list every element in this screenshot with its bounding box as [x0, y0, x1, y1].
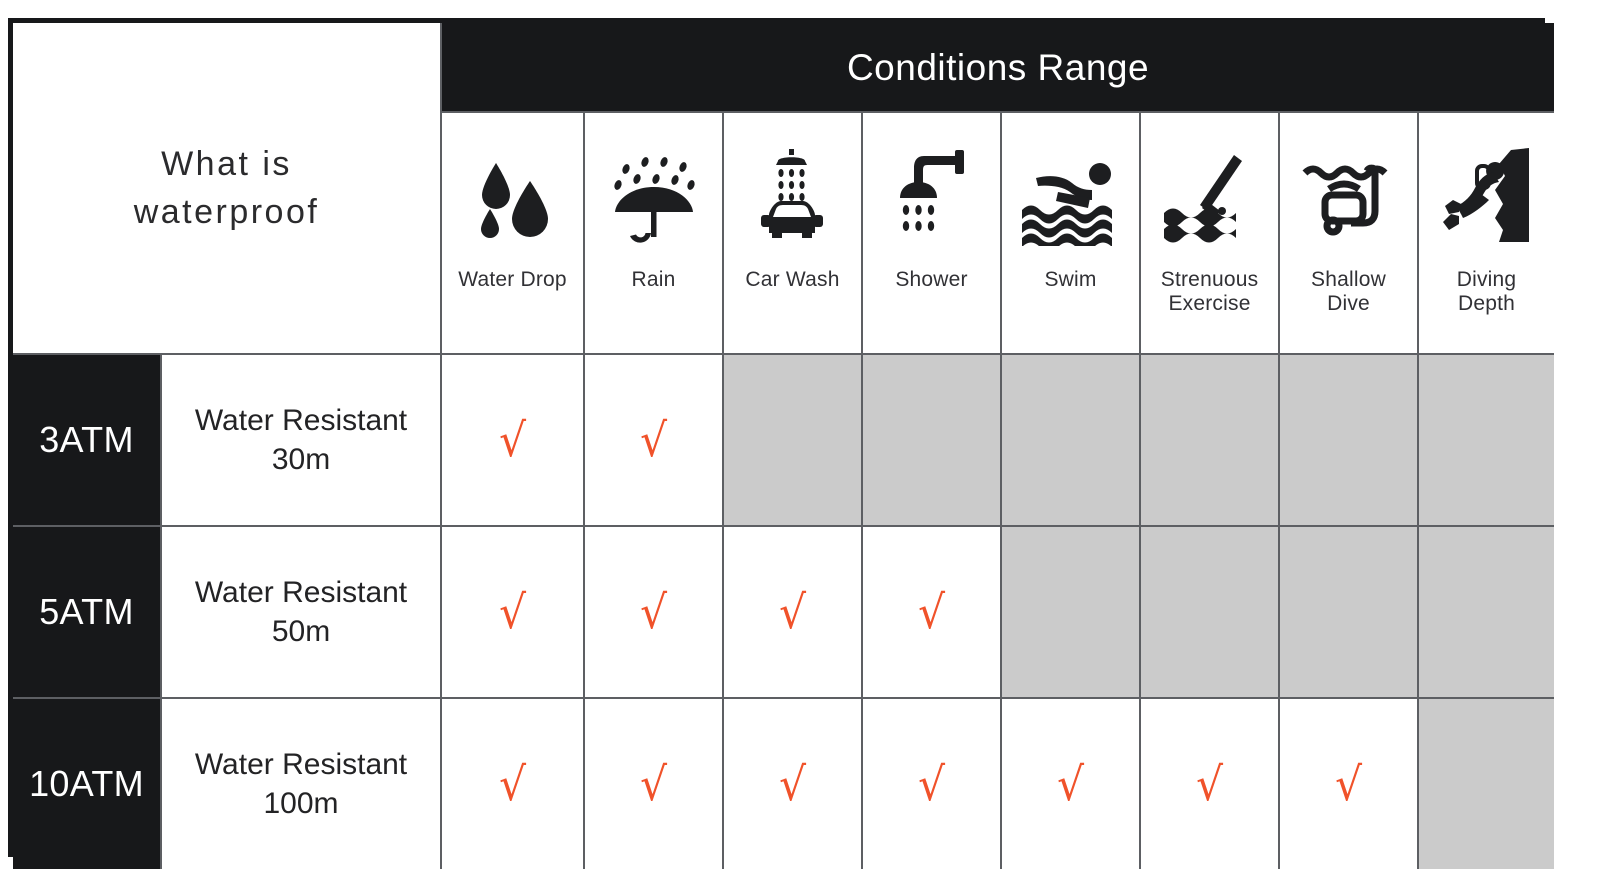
check-icon: √ — [1057, 761, 1084, 807]
cell-10atm-shallow-dive: √ — [1279, 698, 1418, 869]
check-icon: √ — [779, 589, 806, 635]
cell-5atm-shallow-dive — [1279, 526, 1418, 698]
check-icon: √ — [918, 589, 945, 635]
label-line-2: Exercise — [1168, 292, 1250, 315]
column-header-label: Car Wash — [745, 268, 839, 292]
column-header-car-wash[interactable]: Car Wash — [723, 112, 862, 354]
diver-jump-icon — [1160, 141, 1260, 256]
cell-10atm-shower: √ — [862, 698, 1001, 869]
cell-3atm-diving-depth — [1418, 354, 1554, 526]
cell-5atm-shower: √ — [862, 526, 1001, 698]
check-icon: √ — [1196, 761, 1223, 807]
cell-3atm-strenuous-exercise — [1140, 354, 1279, 526]
title-cell: What is waterproof — [13, 23, 441, 354]
column-header-label: StrenuousExercise — [1161, 268, 1259, 317]
column-header-label: Swim — [1044, 268, 1096, 292]
table-row: 5ATM Water Resistant 50m √ √ √ √ — [13, 526, 1554, 698]
check-icon: √ — [499, 761, 526, 807]
check-icon: √ — [640, 761, 667, 807]
cell-10atm-water-drop: √ — [441, 698, 584, 869]
check-icon: √ — [918, 761, 945, 807]
column-header-label: Shower — [895, 268, 967, 292]
label-line-1: Shallow — [1311, 268, 1386, 291]
waterproof-rating-table-page: What is waterproof Conditions Range — [0, 0, 1600, 890]
cell-3atm-swim — [1001, 354, 1140, 526]
rating-description-cell: Water Resistant 50m — [161, 526, 441, 698]
label-line-2: Depth — [1458, 292, 1515, 315]
description-line-2: 30m — [162, 440, 440, 479]
description-line-2: 100m — [162, 784, 440, 823]
column-header-diving-depth[interactable]: DivingDepth — [1418, 112, 1554, 354]
snorkel-mask-icon — [1299, 141, 1399, 256]
column-header-label: Water Drop — [458, 268, 567, 292]
label-line-1: Diving — [1457, 268, 1517, 291]
check-icon: √ — [640, 589, 667, 635]
column-header-shower[interactable]: Shower — [862, 112, 1001, 354]
check-icon: √ — [779, 761, 806, 807]
shower-icon — [884, 141, 980, 256]
status-badge: 3ATM — [13, 355, 160, 525]
cell-3atm-shallow-dive — [1279, 354, 1418, 526]
banner-row: What is waterproof Conditions Range — [13, 23, 1554, 112]
table-row: 3ATM Water Resistant 30m √ √ — [13, 354, 1554, 526]
cell-5atm-rain: √ — [584, 526, 723, 698]
car-wash-icon — [745, 141, 841, 256]
atm-rating-cell: 5ATM — [13, 526, 161, 698]
table-frame: What is waterproof Conditions Range — [8, 18, 1545, 857]
column-header-shallow-dive[interactable]: ShallowDive — [1279, 112, 1418, 354]
atm-rating-cell: 10ATM — [13, 698, 161, 869]
cell-5atm-swim — [1001, 526, 1140, 698]
conditions-range-label: Conditions Range — [442, 49, 1554, 86]
column-header-water-drop[interactable]: Water Drop — [441, 112, 584, 354]
description-line-1: Water Resistant — [162, 401, 440, 440]
cell-5atm-diving-depth — [1418, 526, 1554, 698]
cell-3atm-shower — [862, 354, 1001, 526]
cell-5atm-strenuous-exercise — [1140, 526, 1279, 698]
cell-3atm-water-drop: √ — [441, 354, 584, 526]
column-header-label: DivingDepth — [1457, 268, 1517, 317]
label-line-2: Dive — [1327, 292, 1370, 315]
status-badge: 10ATM — [13, 699, 160, 869]
title-line-1: What is — [13, 140, 440, 188]
status-badge: 5ATM — [13, 527, 160, 697]
check-icon: √ — [499, 417, 526, 463]
cell-5atm-car-wash: √ — [723, 526, 862, 698]
cell-3atm-rain: √ — [584, 354, 723, 526]
table-row: 10ATM Water Resistant 100m √ √ √ √ √ √ √ — [13, 698, 1554, 869]
column-header-label: Rain — [632, 268, 676, 292]
cell-3atm-car-wash — [723, 354, 862, 526]
cell-10atm-diving-depth — [1418, 698, 1554, 869]
description-line-1: Water Resistant — [162, 573, 440, 612]
swimmer-icon — [1018, 141, 1124, 256]
column-header-rain[interactable]: Rain — [584, 112, 723, 354]
check-icon: √ — [640, 417, 667, 463]
check-icon: √ — [499, 589, 526, 635]
waterproof-comparison-table: What is waterproof Conditions Range — [13, 23, 1554, 869]
umbrella-rain-icon — [606, 141, 702, 256]
cell-5atm-water-drop: √ — [441, 526, 584, 698]
description-line-2: 50m — [162, 612, 440, 651]
scuba-diver-icon — [1437, 141, 1537, 256]
column-header-label: ShallowDive — [1311, 268, 1386, 317]
cell-10atm-car-wash: √ — [723, 698, 862, 869]
column-header-strenuous-exercise[interactable]: StrenuousExercise — [1140, 112, 1279, 354]
title-line-2: waterproof — [13, 188, 440, 236]
label-line-1: Strenuous — [1161, 268, 1259, 291]
rating-description-cell: Water Resistant 100m — [161, 698, 441, 869]
page-title: What is waterproof — [13, 140, 440, 237]
cell-10atm-rain: √ — [584, 698, 723, 869]
water-drop-icon — [474, 141, 552, 256]
rating-description-cell: Water Resistant 30m — [161, 354, 441, 526]
check-icon: √ — [1335, 761, 1362, 807]
conditions-range-banner: Conditions Range — [441, 23, 1554, 112]
cell-10atm-strenuous-exercise: √ — [1140, 698, 1279, 869]
column-header-swim[interactable]: Swim — [1001, 112, 1140, 354]
cell-10atm-swim: √ — [1001, 698, 1140, 869]
description-line-1: Water Resistant — [162, 745, 440, 784]
atm-rating-cell: 3ATM — [13, 354, 161, 526]
